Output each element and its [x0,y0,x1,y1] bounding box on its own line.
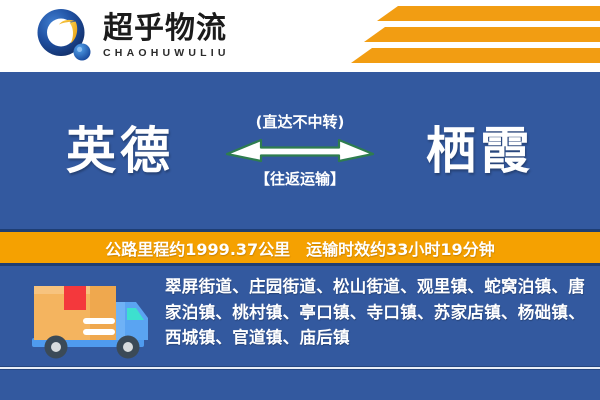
route-section: 英德 (直达不中转) 【往返运输】 栖霞 [0,72,600,229]
brand-name-en: CHAOHUWULIU [103,47,230,59]
brand-name-cn: 超乎物流 [103,13,230,45]
header: 超乎物流 CHAOHUWULIU [0,0,600,72]
circle-swoosh-logo-icon [35,7,97,65]
distance-duration-text: 公路里程约1999.37公里 运输时效约33小时19分钟 [105,236,494,260]
distance-duration-bar: 公路里程约1999.37公里 运输时效约33小时19分钟 [0,232,600,263]
double-arrow-icon [225,134,375,166]
destination-city: 栖霞 [385,126,575,176]
route-note-top: (直达不中转) [256,114,345,131]
info-bar-wrapper: 公路里程约1999.37公里 运输时效约33小时19分钟 [0,229,600,266]
brand-text: 超乎物流 CHAOHUWULIU [103,13,230,59]
logistics-route-banner: 超乎物流 CHAOHUWULIU 英德 (直达不中转) 【往返运输】 栖霞 [0,0,600,400]
route-note-bottom: 【往返运输】 [255,171,345,188]
footer [0,370,600,398]
origin-city: 英德 [25,126,215,176]
orange-stripes-icon [330,6,600,68]
route-arrow-block: (直达不中转) 【往返运输】 [215,114,385,188]
delivery-truck-icon [28,276,153,371]
brand-logo[interactable]: 超乎物流 CHAOHUWULIU [35,7,230,65]
coverage-areas-text: 翠屏街道、庄园街道、松山街道、观里镇、蛇窝泊镇、唐家泊镇、桃村镇、亭口镇、寺口镇… [165,274,586,351]
coverage-section: 翠屏街道、庄园街道、松山街道、观里镇、蛇窝泊镇、唐家泊镇、桃村镇、亭口镇、寺口镇… [0,266,600,366]
